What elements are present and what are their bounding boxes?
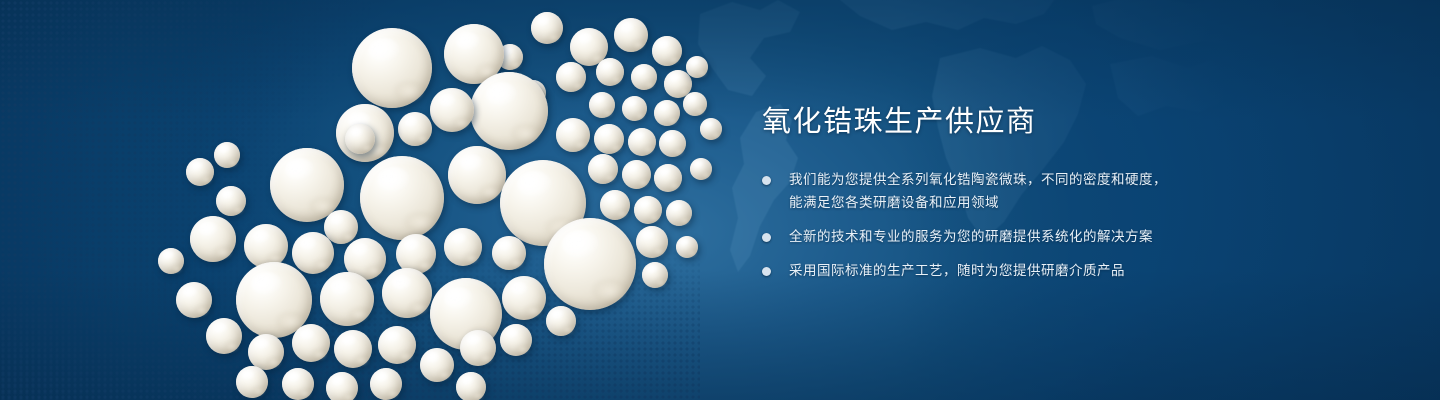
list-item: 全新的技术和专业的服务为您的研磨提供系统化的解决方案 <box>762 225 1232 248</box>
list-item: 采用国际标准的生产工艺，随时为您提供研磨介质产品 <box>762 259 1232 282</box>
bullet-dot-icon <box>762 267 771 276</box>
banner-copy: 氧化锆珠生产供应商 我们能为您提供全系列氧化锆陶瓷微珠，不同的密度和硬度， 能满… <box>762 104 1232 282</box>
feature-list: 我们能为您提供全系列氧化锆陶瓷微珠，不同的密度和硬度， 能满足您各类研磨设备和应… <box>762 168 1232 282</box>
bullet-dot-icon <box>762 233 771 242</box>
list-item-line: 采用国际标准的生产工艺，随时为您提供研磨介质产品 <box>789 259 1232 282</box>
bullet-dot-icon <box>762 176 771 185</box>
list-item: 我们能为您提供全系列氧化锆陶瓷微珠，不同的密度和硬度， 能满足您各类研磨设备和应… <box>762 168 1232 214</box>
list-item-line: 全新的技术和专业的服务为您的研磨提供系统化的解决方案 <box>789 225 1232 248</box>
list-item-line: 能满足您各类研磨设备和应用领域 <box>789 191 1232 214</box>
list-item-line: 我们能为您提供全系列氧化锆陶瓷微珠，不同的密度和硬度， <box>789 168 1232 191</box>
page-title: 氧化锆珠生产供应商 <box>762 104 1232 140</box>
hero-banner: 氧化锆珠生产供应商 我们能为您提供全系列氧化锆陶瓷微珠，不同的密度和硬度， 能满… <box>0 0 1440 400</box>
zirconia-bead-cluster-image <box>0 0 760 400</box>
